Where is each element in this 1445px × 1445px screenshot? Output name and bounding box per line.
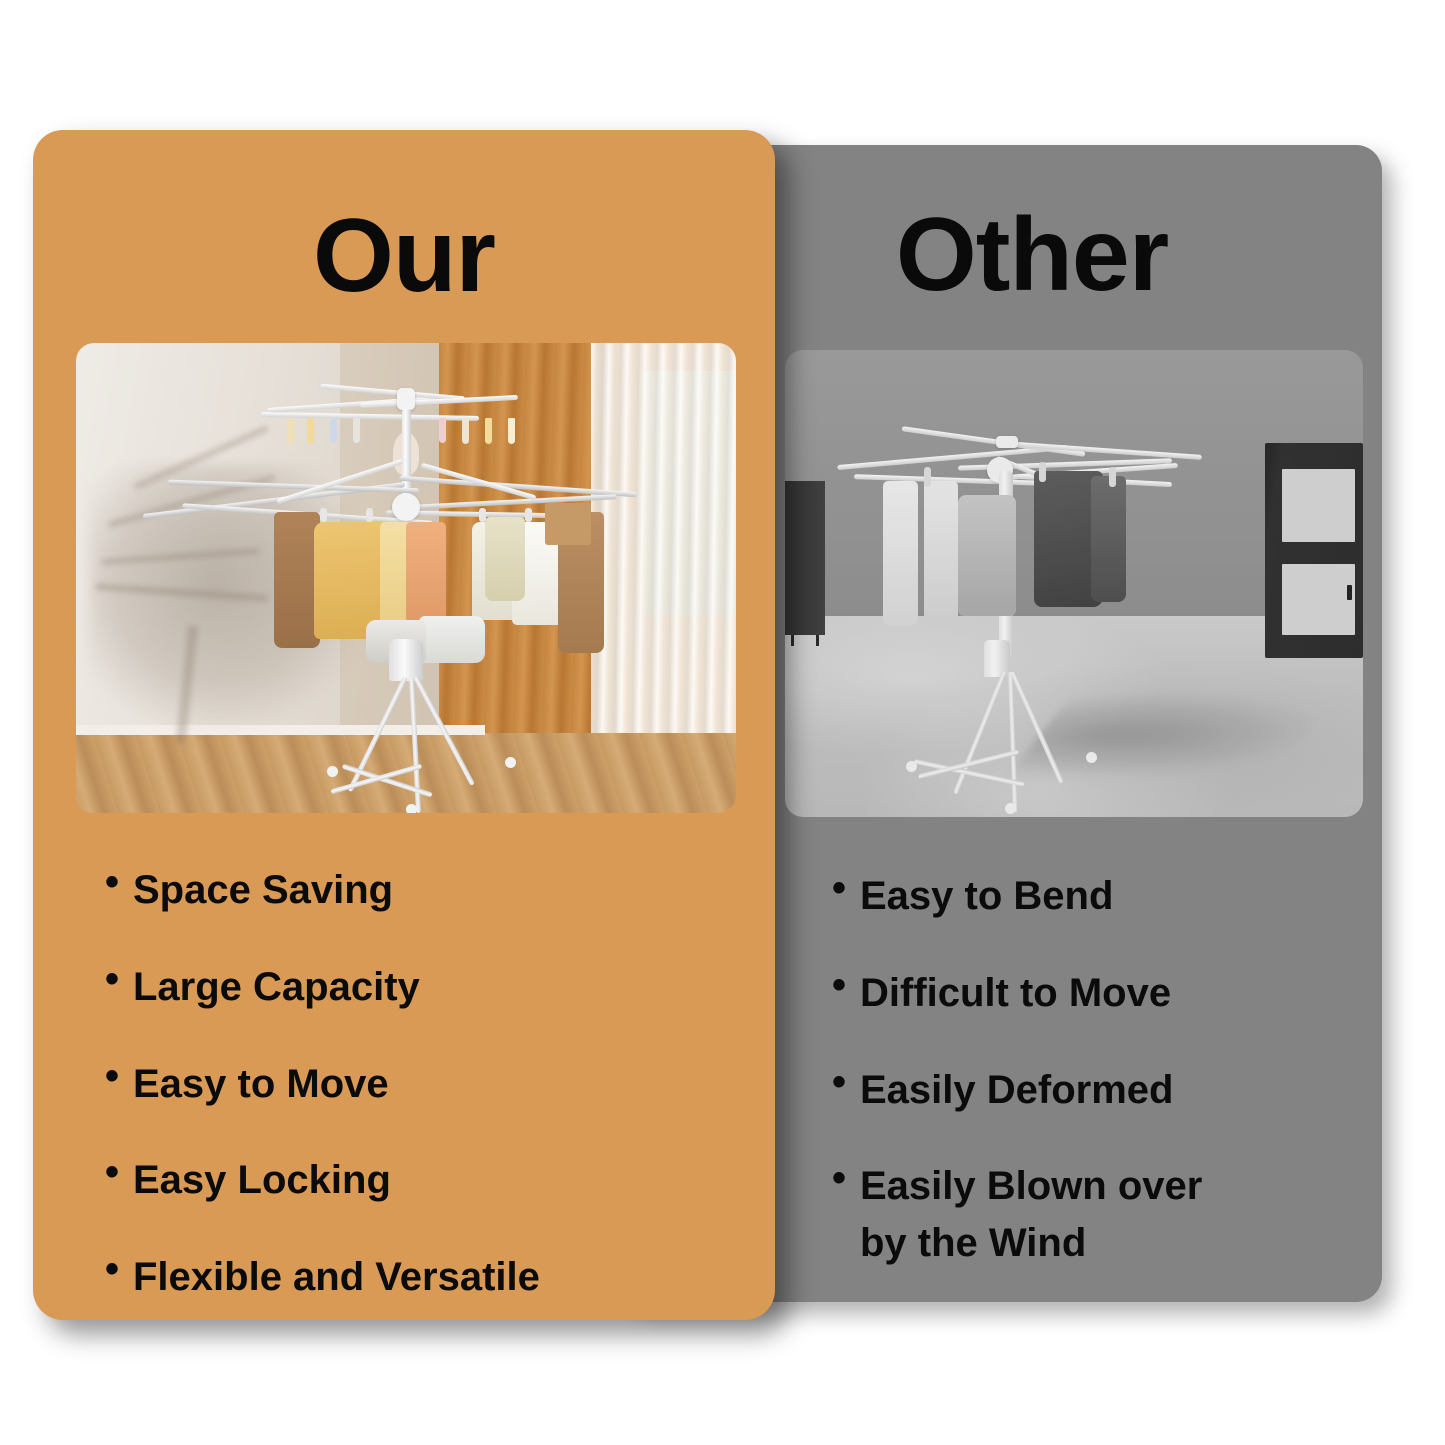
hanger — [320, 508, 327, 522]
rack-foot — [505, 757, 516, 768]
bullet-text: Easy to Bend — [860, 868, 1352, 925]
hanging-sock — [287, 418, 294, 444]
our-panel-bullet-list: • Space Saving • Large Capacity • Easy t… — [105, 862, 745, 1346]
rack-foot — [406, 804, 417, 813]
bullet-marker: • — [832, 1158, 860, 1198]
bullet-marker: • — [105, 1056, 133, 1096]
our-panel-card: Our — [33, 130, 775, 1320]
bullet-text: Easy Locking — [133, 1152, 745, 1209]
rack-base-joint — [389, 639, 423, 681]
hanging-sock — [330, 418, 337, 443]
hanging-sock — [508, 418, 515, 444]
other-product-photo — [785, 350, 1363, 817]
other-photo-scene — [785, 350, 1363, 817]
rack-top-cap — [996, 436, 1018, 448]
right-cabinet — [1265, 443, 1363, 658]
cabinet-leg — [791, 635, 794, 646]
bullet-marker: • — [105, 1249, 133, 1289]
rack-top-hub — [397, 388, 415, 410]
bullet-marker: • — [105, 959, 133, 999]
sheer-curtain — [591, 343, 736, 785]
list-item: • Flexible and Versatile — [105, 1249, 745, 1306]
garment-peach-top — [406, 522, 446, 625]
bullet-text: Easily Deformed — [860, 1062, 1352, 1119]
bullet-marker: • — [832, 1062, 860, 1102]
hanging-sock — [353, 418, 360, 443]
bullet-text: Large Capacity — [133, 959, 745, 1016]
hanging-sock — [307, 418, 314, 444]
garment-dark-pants — [1091, 476, 1126, 602]
list-item: • Easily Blown over by the Wind — [832, 1158, 1352, 1272]
bullet-text: Space Saving — [133, 862, 745, 919]
bullet-marker: • — [105, 1152, 133, 1192]
bullet-text: Easily Blown over by the Wind — [860, 1158, 1352, 1272]
other-panel-bullet-list: • Easy to Bend • Difficult to Move • Eas… — [832, 868, 1352, 1312]
comparison-infographic: Other — [0, 0, 1445, 1445]
bullet-text: Easy to Move — [133, 1056, 745, 1113]
cabinet-drawer — [1282, 469, 1355, 542]
wood-floor — [76, 733, 736, 813]
left-cabinet — [785, 481, 825, 635]
list-item: • Large Capacity — [105, 959, 745, 1016]
garment-beige-top — [485, 517, 525, 602]
our-photo-scene — [76, 343, 736, 813]
bullet-text: Difficult to Move — [860, 965, 1352, 1022]
cabinet-drawer — [1282, 564, 1355, 635]
list-item: • Difficult to Move — [832, 965, 1352, 1022]
garment-white-top — [924, 481, 959, 626]
rack-foot — [1005, 803, 1016, 814]
rack-foot — [327, 766, 338, 777]
list-item: • Space Saving — [105, 862, 745, 919]
rack-pole-base — [984, 640, 1010, 677]
garment-folded-towel — [545, 503, 591, 545]
rack-clip — [924, 467, 931, 487]
our-product-photo — [76, 343, 736, 813]
hanger — [479, 508, 486, 522]
other-panel-title: Other — [792, 203, 1272, 307]
garment-gray-shirt — [958, 495, 1016, 616]
hanging-sock — [462, 418, 469, 444]
bullet-marker: • — [832, 965, 860, 1005]
our-panel-title: Our — [33, 204, 775, 308]
hanging-sock — [485, 418, 492, 444]
cabinet-leg — [816, 635, 819, 646]
list-item: • Easily Deformed — [832, 1062, 1352, 1119]
rack-foot — [1086, 752, 1097, 763]
hanger — [366, 508, 373, 522]
list-item: • Easy to Bend — [832, 868, 1352, 925]
list-item: • Easy Locking — [105, 1152, 745, 1209]
bullet-marker: • — [832, 868, 860, 908]
hanging-sock — [439, 418, 446, 443]
rack-clip — [1109, 467, 1116, 487]
cabinet-handle — [1347, 585, 1352, 600]
garment-white-top — [883, 481, 918, 626]
rack-clip — [1039, 462, 1046, 482]
bullet-marker: • — [105, 862, 133, 902]
bullet-text: Flexible and Versatile — [133, 1249, 745, 1306]
shoe — [419, 616, 485, 663]
hanger — [525, 508, 532, 522]
list-item: • Easy to Move — [105, 1056, 745, 1113]
